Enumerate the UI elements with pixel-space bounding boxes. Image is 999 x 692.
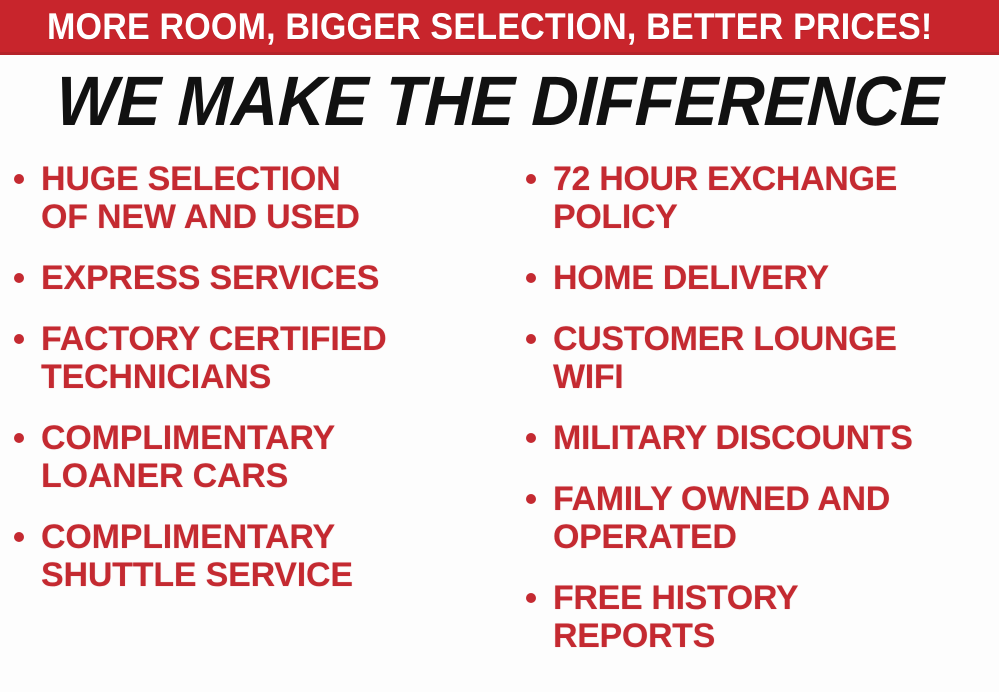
list-item: HOME DELIVERY (526, 259, 999, 297)
top-banner-text: MORE ROOM, BIGGER SELECTION, BETTER PRIC… (47, 8, 932, 45)
list-item-label: HOME DELIVERY (553, 259, 829, 297)
list-item-label: FREE HISTORY REPORTS (553, 579, 798, 655)
bullet-dot-icon (14, 433, 24, 443)
list-item-label: FACTORY CERTIFIED TECHNICIANS (41, 320, 386, 396)
list-item-label: 72 HOUR EXCHANGE POLICY (553, 160, 897, 236)
bullet-dot-icon (526, 494, 536, 504)
list-item-label: MILITARY DISCOUNTS (553, 419, 913, 457)
list-item: 72 HOUR EXCHANGE POLICY (526, 160, 999, 236)
feature-column-left: HUGE SELECTION OF NEW AND USED EXPRESS S… (0, 160, 512, 617)
bullet-dot-icon (14, 334, 24, 344)
list-item: FACTORY CERTIFIED TECHNICIANS (14, 320, 512, 396)
list-item: HUGE SELECTION OF NEW AND USED (14, 160, 512, 236)
bullet-dot-icon (526, 174, 536, 184)
list-item: COMPLIMENTARY LOANER CARS (14, 419, 512, 495)
headline-text: WE MAKE THE DIFFERENCE (55, 66, 944, 136)
headline: WE MAKE THE DIFFERENCE (0, 66, 999, 136)
top-banner: MORE ROOM, BIGGER SELECTION, BETTER PRIC… (0, 0, 999, 55)
bullet-dot-icon (526, 334, 536, 344)
list-item: FAMILY OWNED AND OPERATED (526, 480, 999, 556)
bullet-dot-icon (14, 174, 24, 184)
bullet-dot-icon (526, 273, 536, 283)
list-item-label: COMPLIMENTARY SHUTTLE SERVICE (41, 518, 353, 594)
promo-poster: MORE ROOM, BIGGER SELECTION, BETTER PRIC… (0, 0, 999, 692)
list-item-label: FAMILY OWNED AND OPERATED (553, 480, 890, 556)
list-item-label: CUSTOMER LOUNGE WIFI (553, 320, 897, 396)
feature-columns: HUGE SELECTION OF NEW AND USED EXPRESS S… (0, 160, 999, 692)
bullet-dot-icon (14, 273, 24, 283)
list-item-label: COMPLIMENTARY LOANER CARS (41, 419, 335, 495)
bullet-dot-icon (526, 433, 536, 443)
bullet-dot-icon (14, 532, 24, 542)
list-item-label: HUGE SELECTION OF NEW AND USED (41, 160, 360, 236)
feature-column-right: 72 HOUR EXCHANGE POLICY HOME DELIVERY CU… (512, 160, 999, 678)
list-item: FREE HISTORY REPORTS (526, 579, 999, 655)
list-item: COMPLIMENTARY SHUTTLE SERVICE (14, 518, 512, 594)
list-item: MILITARY DISCOUNTS (526, 419, 999, 457)
bullet-dot-icon (526, 593, 536, 603)
list-item: CUSTOMER LOUNGE WIFI (526, 320, 999, 396)
list-item-label: EXPRESS SERVICES (41, 259, 379, 297)
list-item: EXPRESS SERVICES (14, 259, 512, 297)
